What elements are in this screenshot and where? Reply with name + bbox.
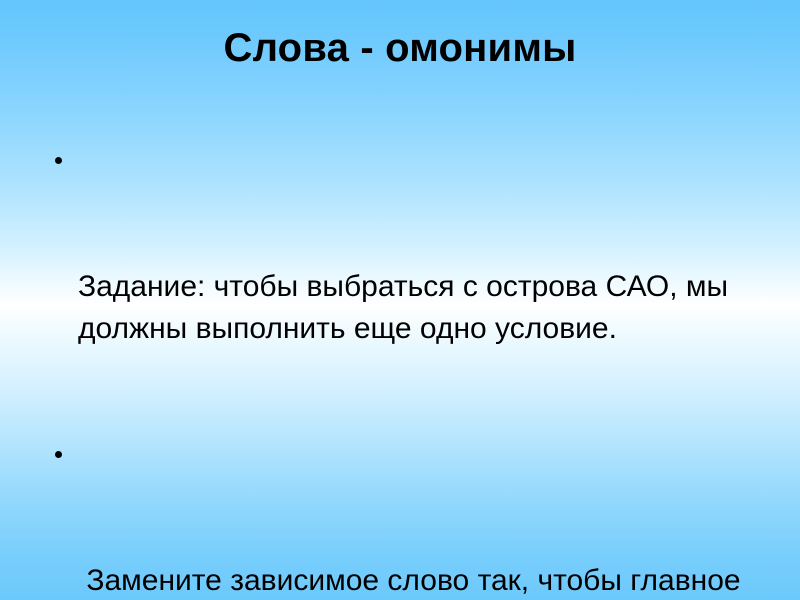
list-item: Замените зависимое слово так, чтобы глав… <box>44 434 776 600</box>
list-item-text: Замените зависимое слово так, чтобы глав… <box>78 560 776 600</box>
list-item: Задание: чтобы выбраться с острова САО, … <box>44 140 776 434</box>
slide-body-content: Задание: чтобы выбраться с острова САО, … <box>44 140 776 600</box>
bullet-dot-icon <box>55 157 62 164</box>
slide-title-area: Слова - омонимы <box>0 24 800 72</box>
bullet-dot-icon <box>55 451 62 458</box>
page-title: Слова - омонимы <box>224 24 577 72</box>
presentation-slide: Слова - омонимы Задание: чтобы выбраться… <box>0 0 800 600</box>
list-item-text: Задание: чтобы выбраться с острова САО, … <box>78 266 776 350</box>
